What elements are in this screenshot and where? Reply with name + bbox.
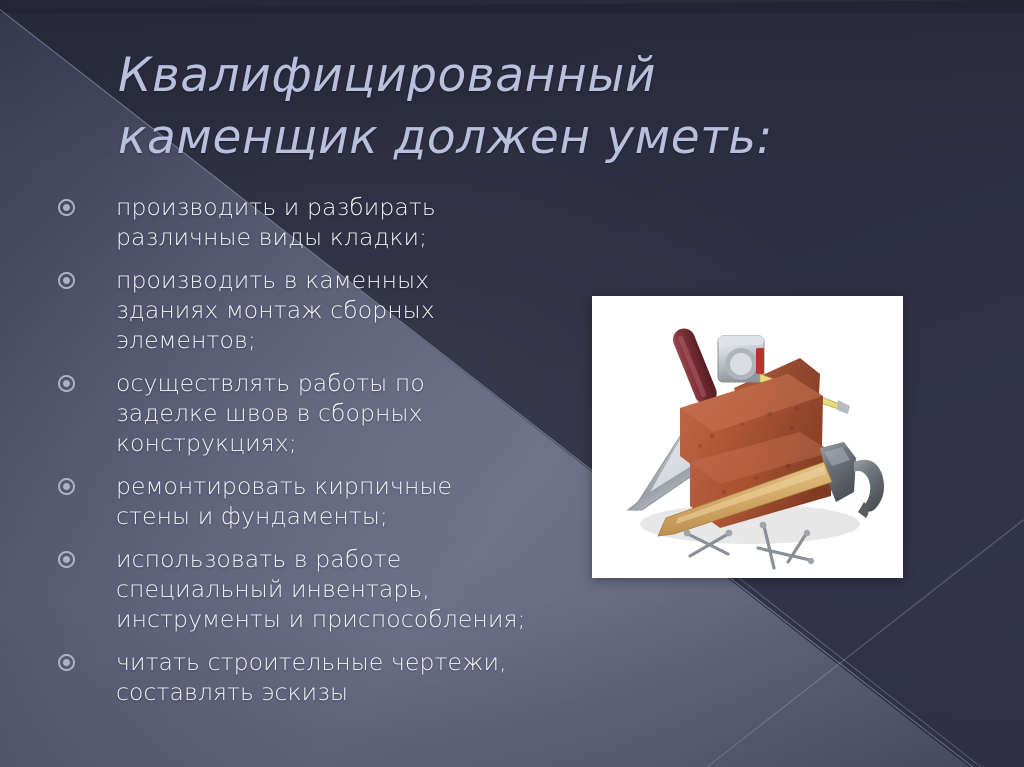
target-dot-icon (58, 478, 75, 495)
list-item: ремонтировать кирпичные стены и фундамен… (58, 471, 528, 531)
list-item: читать строительные чертежи, составлять … (58, 647, 528, 707)
slide-title: Квалифицированный каменщик должен уметь: (118, 45, 918, 169)
target-dot-icon (58, 272, 75, 289)
list-item-label: производить в каменных зданиях монтаж сб… (116, 265, 528, 355)
presentation-slide: Квалифицированный каменщик должен уметь:… (0, 0, 1024, 767)
list-item-label: осуществлять работы по заделке швов в сб… (116, 368, 528, 458)
target-dot-icon (58, 375, 75, 392)
list-item: использовать в работе специальный инвент… (58, 544, 528, 634)
list-item-label: производить и разбирать различные виды к… (116, 192, 528, 252)
skills-bullet-list: производить и разбирать различные виды к… (58, 192, 528, 720)
list-item-label: читать строительные чертежи, составлять … (116, 647, 528, 707)
bricks-and-tools-photo (592, 296, 903, 578)
target-dot-icon (58, 199, 75, 216)
list-item: производить и разбирать различные виды к… (58, 192, 528, 252)
target-dot-icon (58, 551, 75, 568)
list-item: осуществлять работы по заделке швов в сб… (58, 368, 528, 458)
list-item: производить в каменных зданиях монтаж сб… (58, 265, 528, 355)
list-item-label: использовать в работе специальный инвент… (116, 544, 528, 634)
slide-title-line-1: Квалифицированный (118, 45, 918, 107)
slide-top-band (0, 0, 1024, 13)
list-item-label: ремонтировать кирпичные стены и фундамен… (116, 471, 528, 531)
slide-title-line-2: каменщик должен уметь: (118, 107, 918, 169)
target-dot-icon (58, 654, 75, 671)
